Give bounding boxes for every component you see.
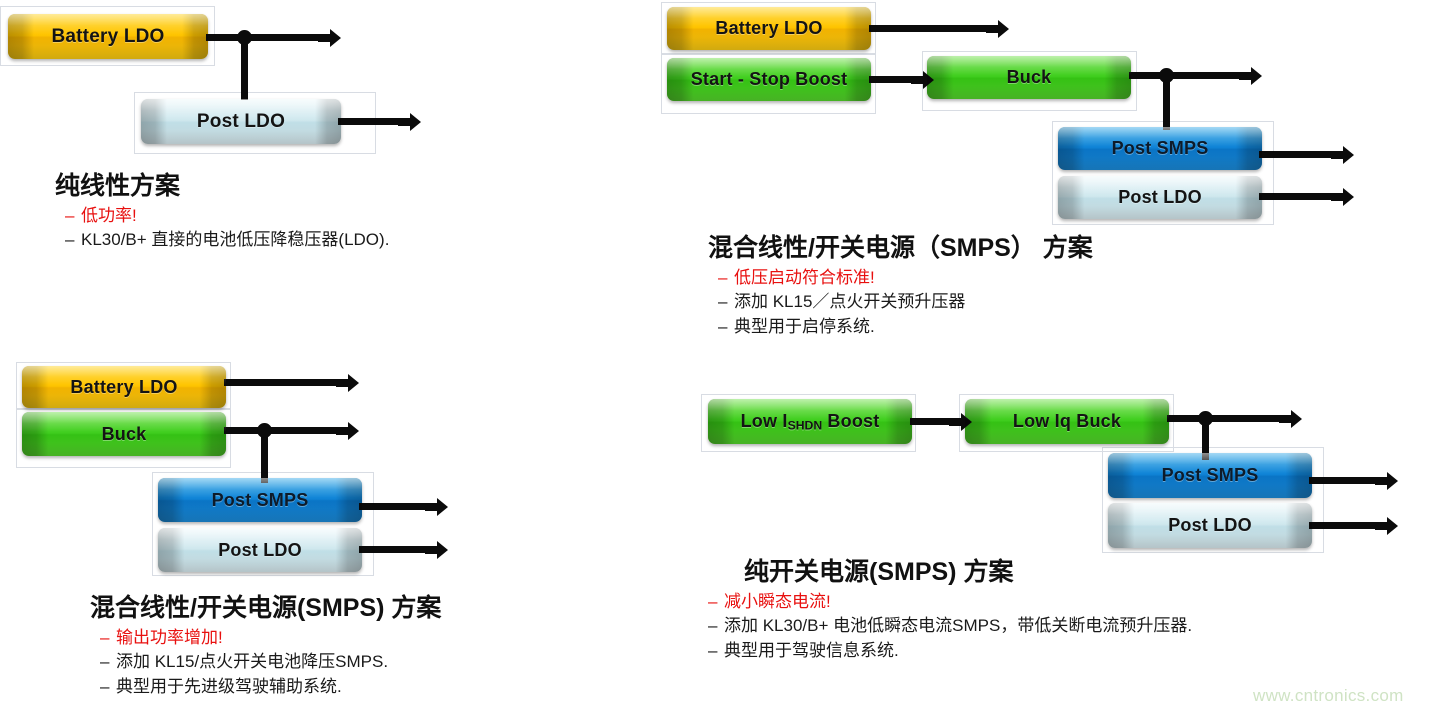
block-label: Battery LDO: [70, 377, 177, 398]
bullet-dash: –: [100, 626, 116, 651]
block-label: Start - Stop Boost: [691, 69, 848, 90]
bullet-dash: –: [708, 590, 724, 615]
wire-junction-dot: [1198, 411, 1213, 426]
bullet-list: – 减小瞬态电流! – 添加 KL30/B+ 电池低瞬态电流SMPS，带低关断电…: [708, 590, 1192, 664]
bullet-dash: –: [708, 614, 724, 639]
bullet-list: – 低压启动符合标准! – 添加 KL15／点火开关预升压器 – 典型用于启停系…: [708, 266, 1093, 340]
bullet-item: – 添加 KL15/点火开关电池降压SMPS.: [100, 650, 441, 675]
block-post-ldo[interactable]: Post LDO: [141, 99, 341, 144]
panel-title: 纯线性方案: [55, 172, 389, 201]
bullet-item: – 添加 KL30/B+ 电池低瞬态电流SMPS，带低关断电流预升压器.: [708, 614, 1192, 639]
arrow-right-icon: [423, 537, 449, 563]
bullet-text: 典型用于启停系统.: [734, 315, 875, 340]
bullet-text: KL30/B+ 直接的电池低压降稳压器(LDO).: [81, 228, 389, 253]
bullet-dash: –: [100, 650, 116, 675]
block-label-suffix: Boost: [822, 411, 879, 431]
wire-buck-out: [1129, 72, 1247, 79]
block-post-smps[interactable]: Post SMPS: [1108, 453, 1312, 498]
block-post-smps[interactable]: Post SMPS: [1058, 127, 1262, 170]
block-buck[interactable]: Buck: [927, 56, 1131, 99]
caption-hybrid-smps-top: 混合线性/开关电源（SMPS） 方案 – 低压启动符合标准! – 添加 KL15…: [708, 234, 1093, 340]
wire-post-ldo-out: [359, 546, 431, 553]
bullet-item: – KL30/B+ 直接的电池低压降稳压器(LDO).: [65, 228, 389, 253]
wire-junction-dot: [257, 423, 272, 438]
bullet-text: 减小瞬态电流!: [724, 590, 831, 615]
bullet-text: 输出功率增加!: [116, 626, 223, 651]
bullet-text: 添加 KL30/B+ 电池低瞬态电流SMPS，带低关断电流预升压器.: [724, 614, 1192, 639]
block-label-subscript: SHDN: [788, 418, 823, 432]
arrow-right-icon: [1373, 513, 1399, 539]
arrow-right-icon: [1329, 184, 1355, 210]
block-post-ldo[interactable]: Post LDO: [1108, 503, 1312, 548]
wire-junction-dot: [237, 30, 252, 45]
block-label: Battery LDO: [715, 18, 822, 39]
arrow-right-icon: [1373, 468, 1399, 494]
bullet-dash: –: [708, 639, 724, 664]
bullet-text: 添加 KL15/点火开关电池降压SMPS.: [116, 650, 388, 675]
bullet-text: 典型用于先进级驾驶辅助系统.: [116, 675, 342, 700]
block-label: Post SMPS: [1112, 138, 1209, 159]
block-post-ldo[interactable]: Post LDO: [1058, 176, 1262, 219]
block-label-prefix: Low I: [741, 411, 788, 431]
bullet-item: – 低压启动符合标准!: [718, 266, 1093, 291]
bullet-item: – 减小瞬态电流!: [708, 590, 1192, 615]
wire-battery-ldo-out: [224, 379, 344, 386]
arrow-right-icon: [1329, 142, 1355, 168]
bullet-dash: –: [718, 266, 734, 291]
bullet-dash: –: [100, 675, 116, 700]
bullet-list: – 低功率! – KL30/B+ 直接的电池低压降稳压器(LDO).: [55, 204, 389, 253]
arrow-right-icon: [984, 16, 1010, 42]
bullet-item: – 添加 KL15／点火开关预升压器: [718, 290, 1093, 315]
panel-title: 混合线性/开关电源(SMPS) 方案: [90, 594, 441, 623]
arrow-right-icon: [334, 370, 360, 396]
arrow-right-icon: [334, 418, 360, 444]
bullet-dash: –: [65, 228, 81, 253]
wire-post-ldo-out: [1259, 193, 1337, 200]
bullet-item: – 低功率!: [65, 204, 389, 229]
wire-post-smps-out: [1259, 151, 1337, 158]
bullet-text: 添加 KL15／点火开关预升压器: [734, 290, 965, 315]
block-label: Low Iq Buck: [1013, 411, 1121, 432]
block-label: Post LDO: [197, 111, 285, 133]
bullet-item: – 典型用于驾驶信息系统.: [708, 639, 1192, 664]
block-label: Post LDO: [1118, 187, 1202, 208]
diagram-canvas: Battery LDO Post LDO 纯线性方案 – 低功率! –: [0, 0, 1437, 713]
caption-pure-smps: 纯开关电源(SMPS) 方案 – 减小瞬态电流! – 添加 KL30/B+ 电池…: [708, 558, 1192, 664]
bullet-text: 低功率!: [81, 204, 137, 229]
wire-post-smps-out: [359, 503, 431, 510]
block-label: Buck: [102, 424, 147, 445]
bullet-text: 低压启动符合标准!: [734, 266, 875, 291]
block-battery-ldo[interactable]: Battery LDO: [22, 366, 226, 408]
caption-pure-linear: 纯线性方案 – 低功率! – KL30/B+ 直接的电池低压降稳压器(LDO).: [55, 172, 389, 253]
block-low-ishdn-boost[interactable]: Low ISHDN Boost: [708, 399, 912, 444]
bullet-list: – 输出功率增加! – 添加 KL15/点火开关电池降压SMPS. – 典型用于…: [90, 626, 441, 700]
bullet-dash: –: [718, 315, 734, 340]
wire-post-ldo-out: [1309, 522, 1381, 529]
arrow-right-icon: [316, 25, 342, 51]
arrow-right-icon: [396, 109, 422, 135]
block-label: Buck: [1007, 67, 1052, 88]
block-label: Low ISHDN Boost: [741, 411, 880, 433]
bullet-item: – 典型用于先进级驾驶辅助系统.: [100, 675, 441, 700]
block-post-ldo[interactable]: Post LDO: [158, 528, 362, 572]
bullet-item: – 输出功率增加!: [100, 626, 441, 651]
bullet-dash: –: [718, 290, 734, 315]
panel-title: 混合线性/开关电源（SMPS） 方案: [708, 234, 1093, 263]
bullet-text: 典型用于驾驶信息系统.: [724, 639, 899, 664]
block-battery-ldo[interactable]: Battery LDO: [667, 7, 871, 50]
block-label: Post SMPS: [1162, 465, 1259, 486]
wire-post-smps-out: [1309, 477, 1381, 484]
wire-buck-out: [1167, 415, 1287, 422]
block-label: Post SMPS: [212, 490, 309, 511]
arrow-right-icon: [423, 494, 449, 520]
wire-battery-ldo-out: [206, 34, 326, 41]
site-watermark: www.cntronics.com: [1253, 686, 1404, 706]
caption-hybrid-smps-bottom: 混合线性/开关电源(SMPS) 方案 – 输出功率增加! – 添加 KL15/点…: [90, 594, 441, 700]
wire-buck-out: [224, 427, 344, 434]
panel-title: 纯开关电源(SMPS) 方案: [708, 558, 1192, 587]
arrow-right-icon: [1277, 406, 1303, 432]
wire-battery-ldo-out: [869, 25, 994, 32]
block-low-iq-buck[interactable]: Low Iq Buck: [965, 399, 1169, 444]
wire-post-ldo-out: [338, 118, 402, 125]
block-label: Post LDO: [1168, 515, 1252, 536]
block-battery-ldo[interactable]: Battery LDO: [8, 14, 208, 59]
block-label: Post LDO: [218, 540, 302, 561]
arrow-right-icon: [1237, 63, 1263, 89]
bullet-dash: –: [65, 204, 81, 229]
block-label: Battery LDO: [51, 26, 164, 48]
block-post-smps[interactable]: Post SMPS: [158, 478, 362, 522]
block-start-stop-boost[interactable]: Start - Stop Boost: [667, 58, 871, 101]
block-buck[interactable]: Buck: [22, 412, 226, 456]
wire-junction-dot: [1159, 68, 1174, 83]
bullet-item: – 典型用于启停系统.: [718, 315, 1093, 340]
